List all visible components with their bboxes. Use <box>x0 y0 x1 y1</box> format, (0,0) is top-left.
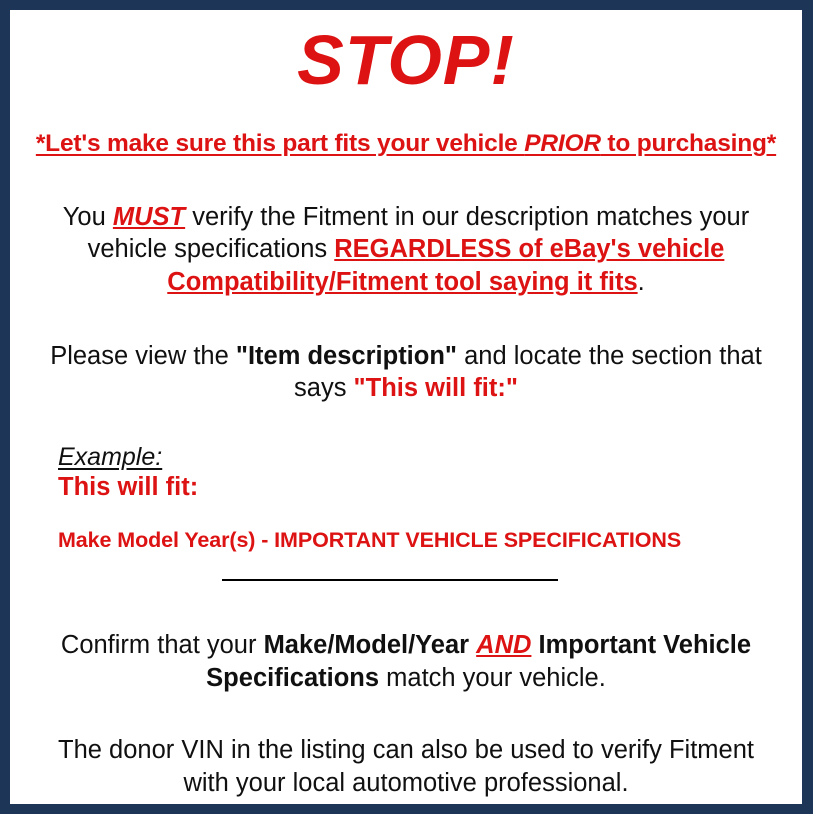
please-seg1: Please view the <box>50 342 236 370</box>
subtitle-emphasis-prior: PRIOR <box>524 130 601 157</box>
confirm-seg1: Confirm that your <box>61 631 264 659</box>
example-spec-line: Make Model Year(s) - IMPORTANT VEHICLE S… <box>58 528 802 553</box>
paragraph-confirm: Confirm that your Make/Model/Year AND Im… <box>10 629 802 694</box>
and-emphasis: AND <box>476 631 531 659</box>
this-will-fit-emphasis: "This will fit:" <box>354 374 518 402</box>
confirm-seg4: match your vehicle. <box>379 664 606 692</box>
must-seg3: . <box>638 268 645 296</box>
example-block: Example: This will fit: Make Model Year(… <box>10 443 802 553</box>
must-seg1: You <box>63 203 113 231</box>
paragraph-must-verify: You MUST verify the Fitment in our descr… <box>10 201 802 299</box>
example-fit-heading: This will fit: <box>58 473 802 502</box>
stop-headline: STOP! <box>10 25 802 95</box>
must-emphasis: MUST <box>113 203 185 231</box>
subtitle-before: *Let's make sure this part fits your veh… <box>36 130 524 157</box>
example-label: Example: <box>58 443 802 471</box>
divider-wrap <box>10 579 802 591</box>
confirm-seg3 <box>531 631 538 659</box>
paragraph-donor-vin: The donor VIN in the listing can also be… <box>10 734 802 799</box>
fitment-notice-banner: STOP! *Let's make sure this part fits yo… <box>0 0 813 814</box>
subtitle-after: to purchasing* <box>601 130 776 157</box>
horizontal-divider <box>222 579 558 581</box>
item-description-emphasis: "Item description" <box>236 342 457 370</box>
paragraph-please-view: Please view the "Item description" and l… <box>10 340 802 405</box>
subtitle-line: *Let's make sure this part fits your veh… <box>10 131 802 157</box>
make-model-year-emphasis: Make/Model/Year <box>264 631 470 659</box>
notice-content-area: STOP! *Let's make sure this part fits yo… <box>10 10 802 804</box>
